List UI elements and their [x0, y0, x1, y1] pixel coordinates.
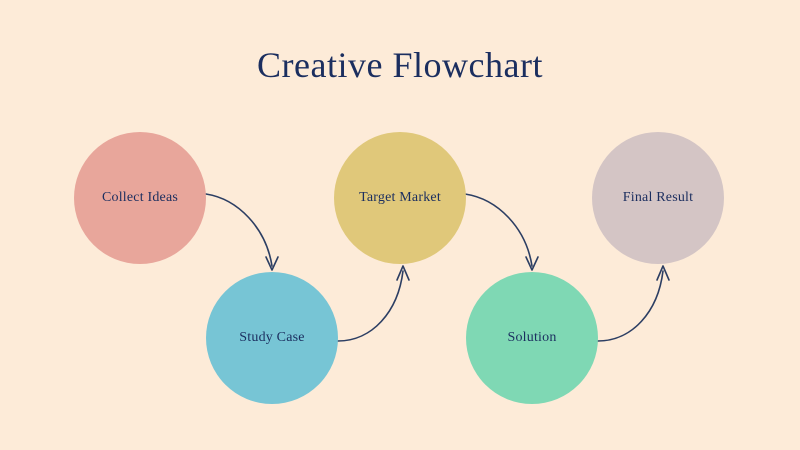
connector-line: [465, 194, 532, 266]
connector-line: [206, 194, 272, 266]
node-label: Collect Ideas: [102, 190, 178, 206]
node-final-result[interactable]: Final Result: [592, 132, 724, 264]
connector-collect-ideas-to-study-case: [206, 194, 278, 270]
arrowhead-down-icon: [266, 257, 278, 270]
connector-study-case-to-target-market: [338, 266, 409, 341]
arrowhead-up-icon: [397, 266, 409, 280]
node-label: Target Market: [359, 190, 441, 206]
node-study-case[interactable]: Study Case: [206, 272, 338, 404]
node-target-market[interactable]: Target Market: [334, 132, 466, 264]
page-title: Creative Flowchart: [0, 44, 800, 86]
connector-line: [598, 271, 663, 341]
connector-line: [338, 271, 403, 341]
flowchart-canvas: Creative Flowchart Collect Ideas Study C…: [0, 0, 800, 450]
node-collect-ideas[interactable]: Collect Ideas: [74, 132, 206, 264]
connector-solution-to-final-result: [598, 266, 669, 341]
node-label: Study Case: [239, 330, 304, 346]
arrowhead-down-icon: [526, 257, 538, 270]
node-label: Final Result: [623, 190, 693, 206]
node-solution[interactable]: Solution: [466, 272, 598, 404]
node-label: Solution: [507, 330, 556, 346]
connector-target-market-to-solution: [465, 194, 538, 270]
arrowhead-up-icon: [657, 266, 669, 280]
